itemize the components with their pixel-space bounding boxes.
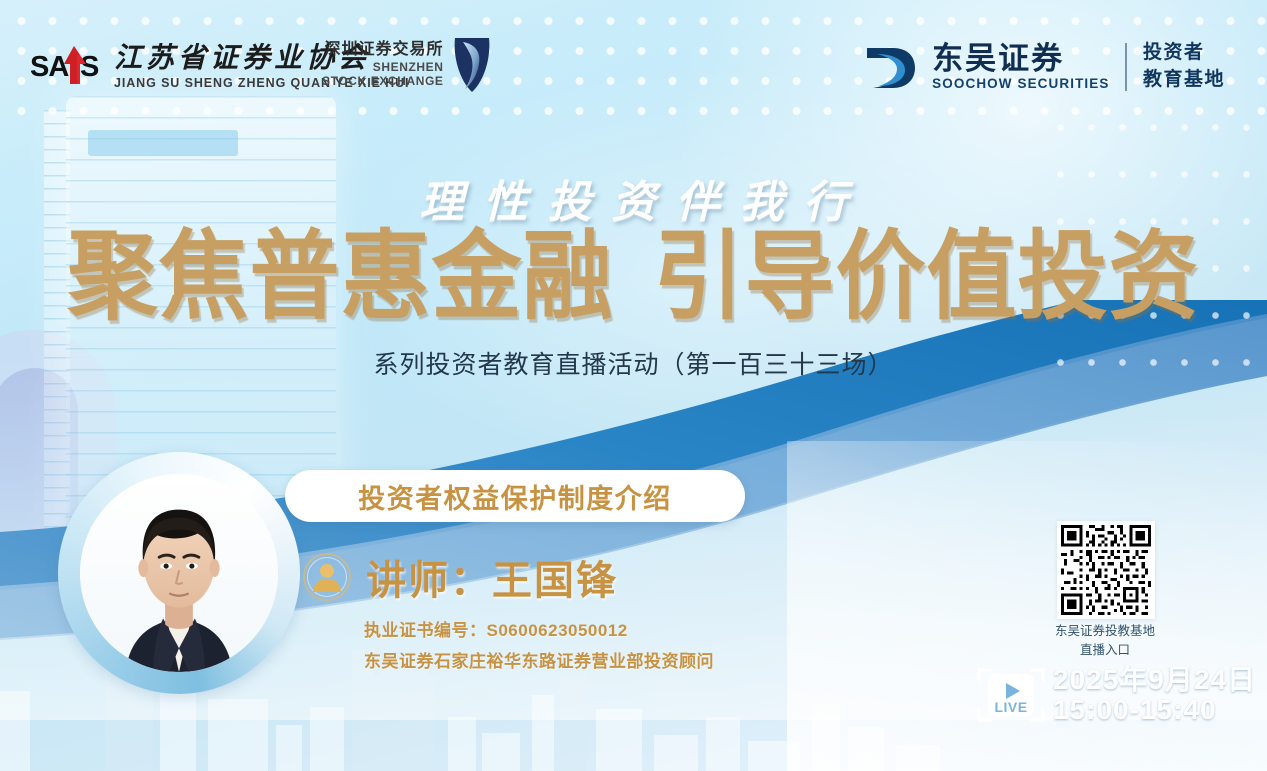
event-date: 2025年9月24日 xyxy=(1053,665,1256,695)
header-bar: SA S 江苏省证券业协会 JIANG SU SHENG ZHENG QUAN … xyxy=(0,0,1267,120)
soochow-securities-logo: 东吴证券 SOOCHOW SECURITIES 投资者 教育基地 xyxy=(863,40,1225,94)
headline-part-left: 聚焦普惠金融 xyxy=(68,220,614,333)
person-avatar-icon xyxy=(302,552,352,602)
headline-part-right: 引导价值投资 xyxy=(654,220,1200,333)
portrait-frame xyxy=(80,474,278,672)
szse-shield-icon xyxy=(451,36,493,94)
event-time: 15:00-15:40 xyxy=(1053,695,1256,725)
soochow-english-name: SOOCHOW SECURITIES xyxy=(932,76,1109,91)
szse-chinese-name: 深圳证券交易所 xyxy=(322,40,444,60)
speaker-organization: 东吴证券石家庄裕华东路证券营业部投资顾问 xyxy=(364,647,714,672)
investor-edu-base-line1: 投资者 xyxy=(1143,40,1225,67)
schedule-text: 2025年9月24日 15:00-15:40 xyxy=(1053,665,1256,725)
soochow-chinese-name: 东吴证券 xyxy=(932,43,1109,75)
qr-caption-line2: 直播入口 xyxy=(985,641,1225,660)
speaker-info-block: 讲师：王国锋 执业证书编号：S0600623050012 东吴证券石家庄裕华东路… xyxy=(302,548,714,672)
qr-code[interactable] xyxy=(1057,521,1155,619)
soochow-mark-icon xyxy=(863,42,921,92)
qr-code-image xyxy=(1061,525,1151,615)
speaker-name-row: 讲师：王国锋 xyxy=(302,548,714,606)
live-schedule-row: LIVE 2025年9月24日 15:00-15:40 xyxy=(975,664,1256,726)
logo-divider xyxy=(1125,43,1127,91)
investor-edu-base-line2: 教育基地 xyxy=(1143,67,1225,94)
sac-mark-icon: SA S xyxy=(30,44,102,86)
live-badge[interactable]: LIVE xyxy=(975,664,1047,726)
svg-text:S: S xyxy=(80,51,99,83)
svg-text:SA: SA xyxy=(30,51,69,83)
szse-english-line1: SHENZHEN xyxy=(322,60,444,74)
poster-canvas: SA S 江苏省证券业协会 JIANG SU SHENG ZHENG QUAN … xyxy=(0,0,1267,771)
svg-text:LIVE: LIVE xyxy=(994,699,1027,715)
shenzhen-stock-exchange-logo: 深圳证券交易所 SHENZHEN STOCK EXCHANGE xyxy=(322,40,493,94)
topic-label: 投资者权益保护制度介绍 xyxy=(358,477,672,516)
szse-english-line2: STOCK EXCHANGE xyxy=(322,74,444,88)
speaker-photo xyxy=(80,474,278,672)
speaker-portrait xyxy=(58,452,300,694)
speaker-certificate-number: 执业证书编号：S0600623050012 xyxy=(364,616,714,641)
event-subtitle: 系列投资者教育直播活动（第一百三十三场） xyxy=(0,345,1267,381)
main-headline: 聚焦普惠金融引导价值投资 xyxy=(0,228,1267,327)
speaker-name: 讲师：王国锋 xyxy=(366,548,618,606)
qr-caption-line1: 东吴证券投教基地 xyxy=(985,622,1225,641)
qr-caption: 东吴证券投教基地 直播入口 xyxy=(985,622,1225,660)
topic-banner: 投资者权益保护制度介绍 xyxy=(285,470,745,522)
